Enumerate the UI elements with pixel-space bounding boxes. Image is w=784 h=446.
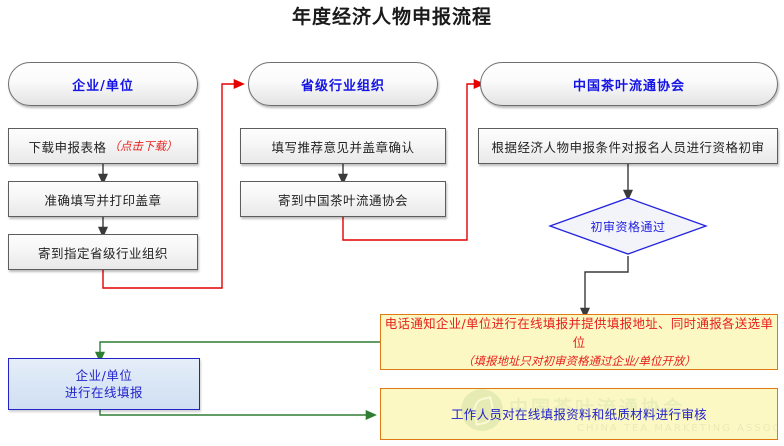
step-enterprise-fill-stamp[interactable]: 准确填写并打印盖章 — [8, 181, 198, 217]
node-enterprise-online-filing[interactable]: 企业/单位 进行在线填报 — [8, 358, 200, 410]
arrow-online-filing-to-review — [100, 410, 372, 415]
download-link-note[interactable]: （点击下载） — [109, 138, 178, 154]
header-enterprise[interactable]: 企业/单位 — [8, 62, 198, 106]
page-title: 年度经济人物申报流程 — [0, 2, 784, 29]
step-provincial-recommendation-label: 填写推荐意见并盖章确认 — [271, 137, 414, 156]
step-enterprise-download-label: 下载申报表格 — [28, 137, 106, 156]
decision-preliminary-qualification-passed[interactable]: 初审资格通过 — [548, 196, 708, 256]
step-enterprise-mail-provincial-label: 寄到指定省级行业组织 — [38, 243, 168, 262]
step-enterprise-mail-provincial[interactable]: 寄到指定省级行业组织 — [8, 234, 198, 270]
step-enterprise-fill-stamp-label: 准确填写并打印盖章 — [44, 190, 161, 209]
step-association-preliminary-review[interactable]: 根据经济人物申报条件对报名人员进行资格初审 — [478, 128, 778, 164]
step-association-preliminary-review-label: 根据经济人物申报条件对报名人员进行资格初审 — [491, 137, 764, 156]
header-provincial-org-label: 省级行业组织 — [301, 75, 385, 94]
arrow-notify-to-online-filing — [100, 342, 380, 358]
step-provincial-mail-association[interactable]: 寄到中国茶叶流通协会 — [240, 181, 446, 217]
callout-notify-line1: 电话通知企业/单位进行在线填报并提供填报地址、同时通报各送选单位 — [381, 314, 777, 352]
callout-notify-line2: （填报地址只对初审资格通过企业/单位开放） — [462, 352, 696, 371]
flowchart-canvas: 年度经济人物申报流程 企业/单位 下载申报表格（点击下载） 准确填写并打印盖章 … — [0, 0, 784, 446]
node-online-filing-line1: 企业/单位 — [76, 367, 133, 384]
callout-staff-review-line1: 工作人员对在线填报资料和纸质材料进行审核 — [451, 405, 707, 424]
step-provincial-recommendation[interactable]: 填写推荐意见并盖章确认 — [240, 128, 446, 164]
header-enterprise-label: 企业/单位 — [72, 75, 134, 94]
arrow-decision-to-notify — [585, 256, 628, 314]
header-china-tea-association[interactable]: 中国茶叶流通协会 — [480, 62, 778, 106]
callout-staff-review[interactable]: 中国茶叶流通协会 CHINA TEA MARKETING ASSOCIATION… — [380, 388, 778, 440]
header-provincial-org[interactable]: 省级行业组织 — [248, 62, 438, 106]
step-enterprise-download[interactable]: 下载申报表格（点击下载） — [8, 128, 198, 164]
node-online-filing-line2: 进行在线填报 — [65, 384, 143, 401]
callout-notify-enterprise[interactable]: 电话通知企业/单位进行在线填报并提供填报地址、同时通报各送选单位 （填报地址只对… — [380, 314, 778, 370]
step-provincial-mail-association-label: 寄到中国茶叶流通协会 — [278, 190, 408, 209]
header-china-tea-association-label: 中国茶叶流通协会 — [573, 75, 685, 94]
